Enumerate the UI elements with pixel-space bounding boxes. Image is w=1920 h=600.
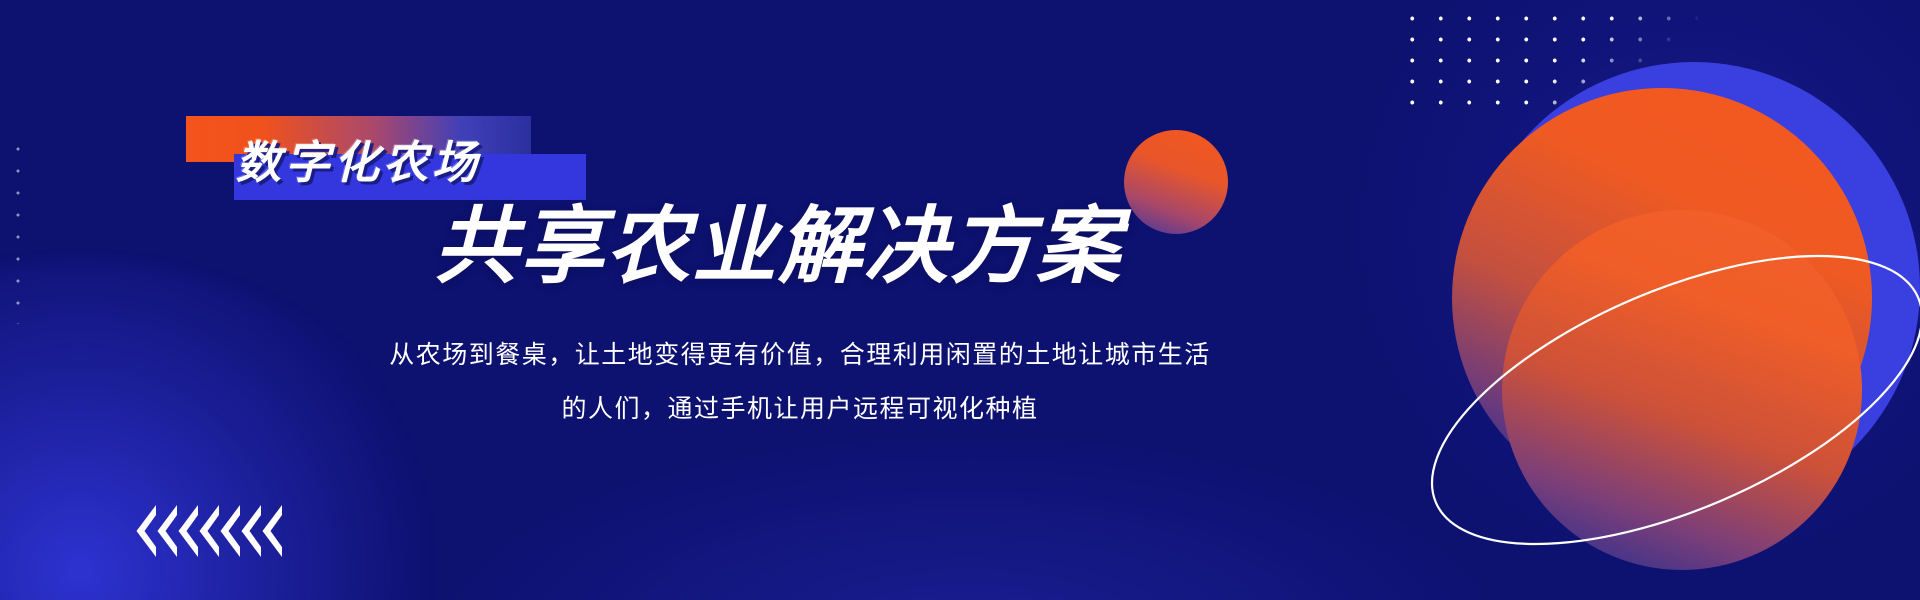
chevron-left-icon [199,505,220,557]
subtitle-line-2: 的人们，通过手机让用户远程可视化种植 [330,382,1270,436]
subtitle-line-1: 从农场到餐桌，让土地变得更有价值，合理利用闲置的土地让城市生活 [330,328,1270,382]
chevron-left-icon [157,505,178,557]
hero-banner: 数字化农场 共享农业解决方案 从农场到餐桌，让土地变得更有价值，合理利用闲置的土… [0,0,1920,600]
chevron-left-icon [241,505,262,557]
chevron-left-icon [220,505,241,557]
chevron-left-icon [262,505,283,557]
badge-label: 数字化农场 [236,132,596,194]
chevron-left-group-icon [136,505,283,557]
badge: 数字化农场 [186,116,586,200]
subtitle: 从农场到餐桌，让土地变得更有价值，合理利用闲置的土地让城市生活 的人们，通过手机… [330,328,1270,436]
background-glow-bottom-right [420,430,1520,600]
vertical-dots-icon [16,138,20,324]
page-title: 共享农业解决方案 [434,198,1122,294]
medium-planet-shape [1502,210,1862,570]
small-planet-shape [1124,130,1228,234]
chevron-left-icon [136,505,157,557]
chevron-left-icon [178,505,199,557]
